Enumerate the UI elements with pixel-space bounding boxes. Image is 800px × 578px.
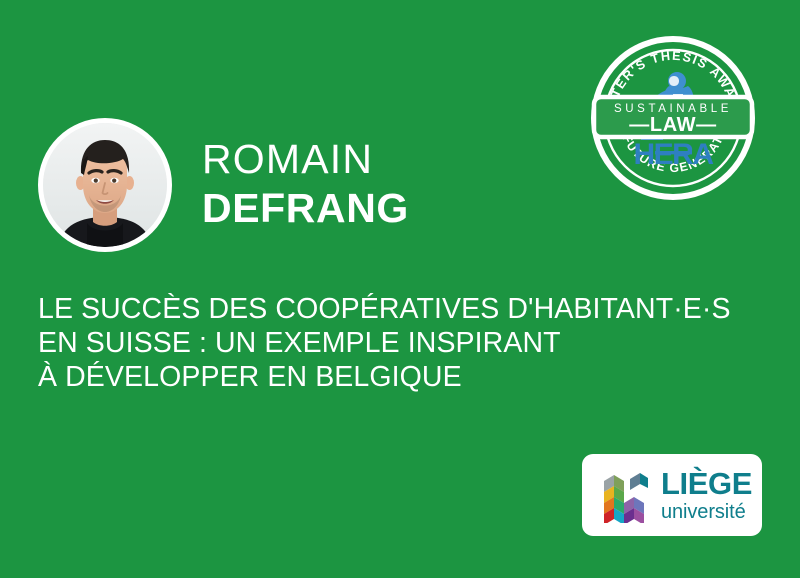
svg-text:—LAW—: —LAW— — [629, 114, 716, 136]
speaker-last-name: DEFRANG — [202, 183, 582, 233]
speaker-name: ROMAIN DEFRANG — [202, 136, 582, 233]
uliege-name-liege: LIÈGE — [661, 468, 752, 500]
sustainable-law-band: SUSTAINABLE —LAW— — [594, 97, 752, 137]
uliege-logo-icon — [598, 469, 652, 523]
uliege-name-universite: université — [661, 501, 752, 523]
title-line-1: LE SUCCÈS DES COOPÉRATIVES D'HABITANT·E·… — [38, 292, 758, 326]
avatar — [38, 118, 172, 252]
speaker-announcement-card: ROMAIN DEFRANG LE SUCCÈS DES COOPÉRATIVE… — [0, 0, 800, 578]
svg-text:HERA: HERA — [633, 138, 713, 171]
speaker-first-name: ROMAIN — [202, 136, 582, 183]
uliege-logo-card: LIÈGE université — [582, 454, 762, 536]
title-line-3: À DÉVELOPPER EN BELGIQUE — [38, 360, 758, 394]
hera-wordmark: HERA — [633, 138, 713, 171]
hera-award-badge: MASTER'S THESIS AWARDS FOR FUTURE GENERA… — [591, 36, 755, 200]
title-line-2: EN SUISSE : UN EXEMPLE INSPIRANT — [38, 326, 758, 360]
portrait-photo — [43, 123, 167, 247]
presentation-title: LE SUCCÈS DES COOPÉRATIVES D'HABITANT·E·… — [38, 292, 758, 394]
